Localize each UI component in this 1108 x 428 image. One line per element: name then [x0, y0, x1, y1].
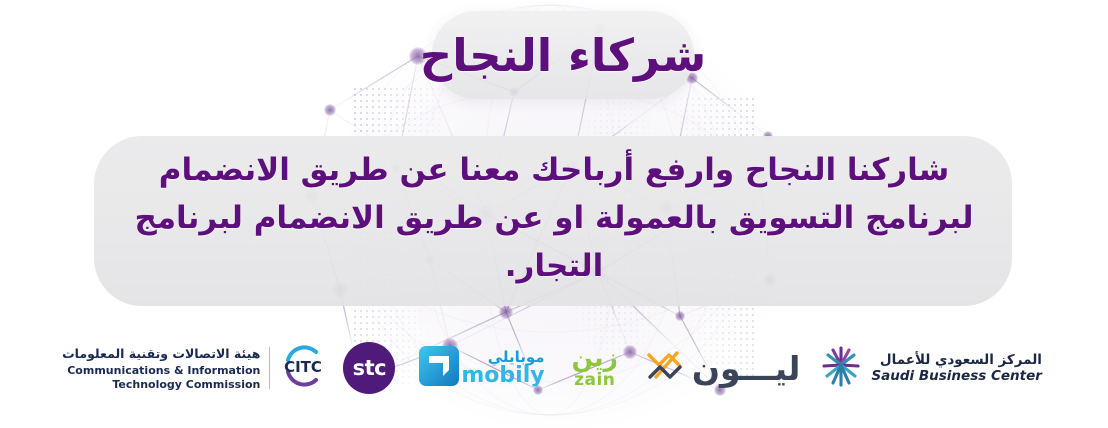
- lean-x-mark-icon: [644, 349, 686, 387]
- partner-logo-citc[interactable]: CITC هيئة الاتصالات وتقنية المعلومات Com…: [62, 339, 327, 397]
- citc-name-en-line2: Technology Commission: [62, 378, 260, 392]
- citc-name-ar: هيئة الاتصالات وتقنية المعلومات: [62, 346, 260, 361]
- zain-name-en: zain: [574, 370, 615, 391]
- partner-logo-strip: المركز السعودي للأعمال Saudi Business Ce…: [0, 336, 1108, 400]
- svg-text:CITC: CITC: [284, 358, 322, 376]
- sbc-name-ar: المركز السعودي للأعمال: [871, 352, 1041, 368]
- mobily-name-en: mobily: [461, 365, 544, 387]
- stc-circle-icon: stc: [343, 342, 395, 394]
- mobily-square-icon: [417, 344, 461, 392]
- partner-logo-stc[interactable]: stc: [343, 339, 395, 397]
- partner-logo-zain[interactable]: زين zain: [572, 339, 618, 397]
- partner-logo-mobily[interactable]: موبايلي mobily: [417, 339, 549, 397]
- partner-logo-saudi-business-center[interactable]: المركز السعودي للأعمال Saudi Business Ce…: [818, 339, 1041, 397]
- citc-name-en-line1: Communications & Information: [62, 364, 260, 378]
- stc-name-en: stc: [353, 358, 387, 379]
- sbc-name-en: Saudi Business Center: [871, 368, 1041, 384]
- citc-text-block: هيئة الاتصالات وتقنية المعلومات Communic…: [62, 343, 260, 392]
- lean-name-ar: ليـــون: [686, 349, 801, 388]
- partners-banner: شركاء النجاح شاركنا النجاح وارفع أرباحك …: [0, 0, 1108, 428]
- mobily-text-block: موبايلي mobily: [461, 349, 549, 388]
- message-text: شاركنا النجاح وارفع أرباحك معنا عن طريق …: [120, 146, 988, 290]
- starburst-icon: [818, 343, 864, 393]
- citc-arcs-icon: CITC: [279, 343, 327, 393]
- page-title: شركاء النجاح: [400, 14, 726, 98]
- citc-divider: [269, 347, 270, 389]
- partner-logo-lean[interactable]: ليـــون: [644, 339, 801, 397]
- zain-name-ar: زين: [572, 345, 618, 370]
- sbc-text-block: المركز السعودي للأعمال Saudi Business Ce…: [864, 352, 1041, 385]
